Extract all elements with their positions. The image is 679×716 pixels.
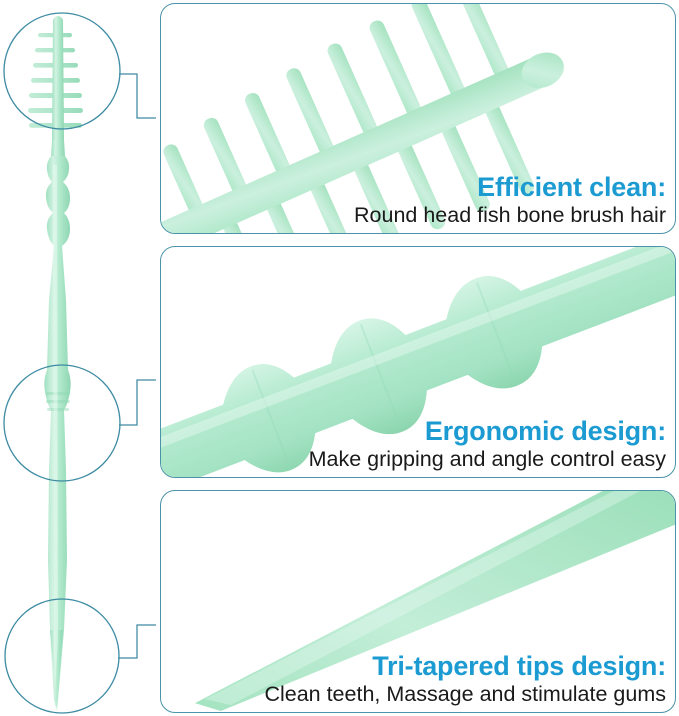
panel-3-heading: Tri-tapered tips design: bbox=[264, 652, 666, 681]
panel-1-body: Round head fish bone brush hair bbox=[354, 204, 666, 227]
callout-circle-brush-head bbox=[4, 13, 120, 129]
callout-connector-tip bbox=[118, 625, 156, 658]
callout-connector-grip bbox=[119, 380, 156, 425]
panel-2-body: Make gripping and angle control easy bbox=[309, 448, 666, 471]
infographic-canvas: Efficient clean: Round head fish bone br… bbox=[0, 0, 679, 716]
callout-overlay bbox=[0, 0, 156, 716]
feature-panel-efficient-clean: Efficient clean: Round head fish bone br… bbox=[160, 3, 676, 234]
panel-1-text-block: Efficient clean: Round head fish bone br… bbox=[354, 173, 666, 227]
callout-circle-tip bbox=[5, 599, 119, 713]
callout-connector-brush-head bbox=[119, 74, 156, 118]
callout-circle-grip bbox=[4, 365, 120, 481]
feature-panel-tri-tapered-tips: Tri-tapered tips design: Clean teeth, Ma… bbox=[160, 490, 676, 713]
panel-3-body: Clean teeth, Massage and stimulate gums bbox=[264, 683, 666, 706]
panel-2-text-block: Ergonomic design: Make gripping and angl… bbox=[309, 417, 666, 471]
feature-panel-ergonomic-design: Ergonomic design: Make gripping and angl… bbox=[160, 246, 676, 478]
panel-1-heading: Efficient clean: bbox=[354, 173, 666, 202]
panel-3-text-block: Tri-tapered tips design: Clean teeth, Ma… bbox=[264, 652, 666, 706]
product-illustration-column bbox=[0, 0, 156, 716]
panel-2-heading: Ergonomic design: bbox=[309, 417, 666, 446]
